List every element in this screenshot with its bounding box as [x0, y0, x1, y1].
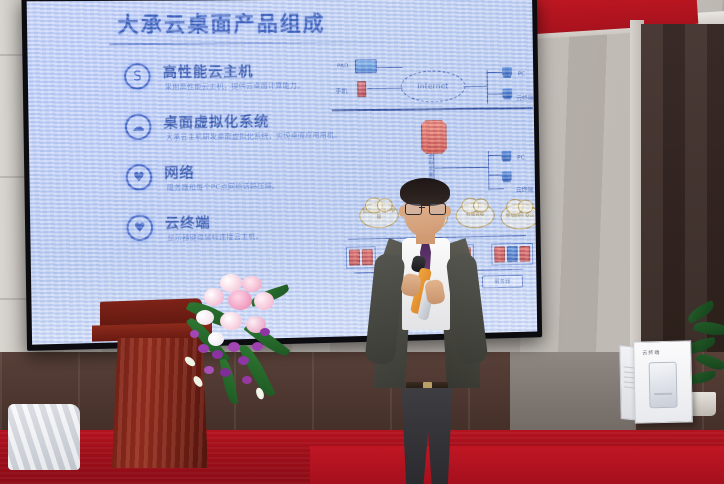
cloud-terminal-icon — [502, 89, 512, 98]
phone-icon — [357, 81, 366, 97]
phone-label: 手机 — [335, 86, 347, 95]
bullet-heading: 云终端 — [165, 212, 211, 233]
cloud-terminal-label-mid: 云终端 — [516, 185, 534, 194]
pc-monitor-icon — [501, 151, 511, 160]
firewall-icon — [421, 120, 447, 154]
eyeglasses-right-lens — [429, 203, 446, 215]
pad-icon — [355, 59, 377, 73]
pc-label-mid: PC — [517, 154, 525, 161]
bullet-subtitle: 显示器键盘鼠标连接云主机。 — [167, 231, 263, 243]
flower-arrangement — [176, 272, 294, 422]
list-item: ☁ 桌面虚拟化系统 大承云主机研发桌面虚拟化系统，实现桌面应用用机。 — [119, 109, 336, 162]
list-item: S 高性能云主机 采用高性能云主机，提供云桌面计算能力。 — [118, 60, 335, 112]
white-draped-table — [8, 404, 80, 470]
slide-bullet-list: S 高性能云主机 采用高性能云主机，提供云桌面计算能力。 ☁ 桌面虚拟化系统 大… — [118, 60, 337, 264]
trousers — [398, 388, 456, 484]
cloud-terminal-label-top: 云终端 — [516, 93, 534, 102]
bullet-subtitle: 大承云主机研发桌面虚拟化系统，实现桌面应用用机。 — [166, 130, 342, 142]
cloud-terminal-icon — [502, 171, 512, 180]
presenter — [368, 176, 484, 484]
cloud-group-4: 移动协同 办公 — [500, 203, 537, 229]
pad-label: PAD — [337, 63, 349, 69]
poster-device-image — [649, 362, 678, 409]
slide-title: 大承云桌面产品组成 — [117, 8, 326, 39]
heart-icon: ♥ — [126, 164, 153, 191]
eyeglasses-bridge — [419, 207, 425, 208]
pc-monitor-icon — [502, 67, 512, 76]
heart-icon: ♥ — [126, 214, 153, 241]
bullet-subtitle: 服务器和每个PC点网络话路压端。 — [166, 181, 279, 193]
hair — [400, 178, 450, 206]
swirl-s-icon: S — [124, 63, 151, 89]
bullet-heading: 网络 — [164, 162, 195, 183]
poster-title: 云终端 — [642, 349, 660, 356]
bullet-subtitle: 采用高性能云主机，提供云桌面计算能力。 — [165, 81, 305, 92]
product-display-board: 云终端 — [633, 340, 693, 423]
bullet-heading: 桌面虚拟化系统 — [163, 111, 269, 132]
internet-oval: Internet — [400, 70, 465, 102]
list-item: ♥ 网络 服务器和每个PC点网络话路压端。 — [119, 159, 336, 213]
pc-label-top: PC — [518, 71, 526, 78]
presentation-photo-scene: 大承云桌面产品组成 S 高性能云主机 采用高性能云主机，提供云桌面计算能力。 ☁… — [0, 0, 724, 484]
cloud-download-icon: ☁ — [125, 114, 152, 141]
bullet-heading: 高性能云主机 — [163, 61, 254, 82]
eyeglasses-left-lens — [405, 203, 422, 215]
